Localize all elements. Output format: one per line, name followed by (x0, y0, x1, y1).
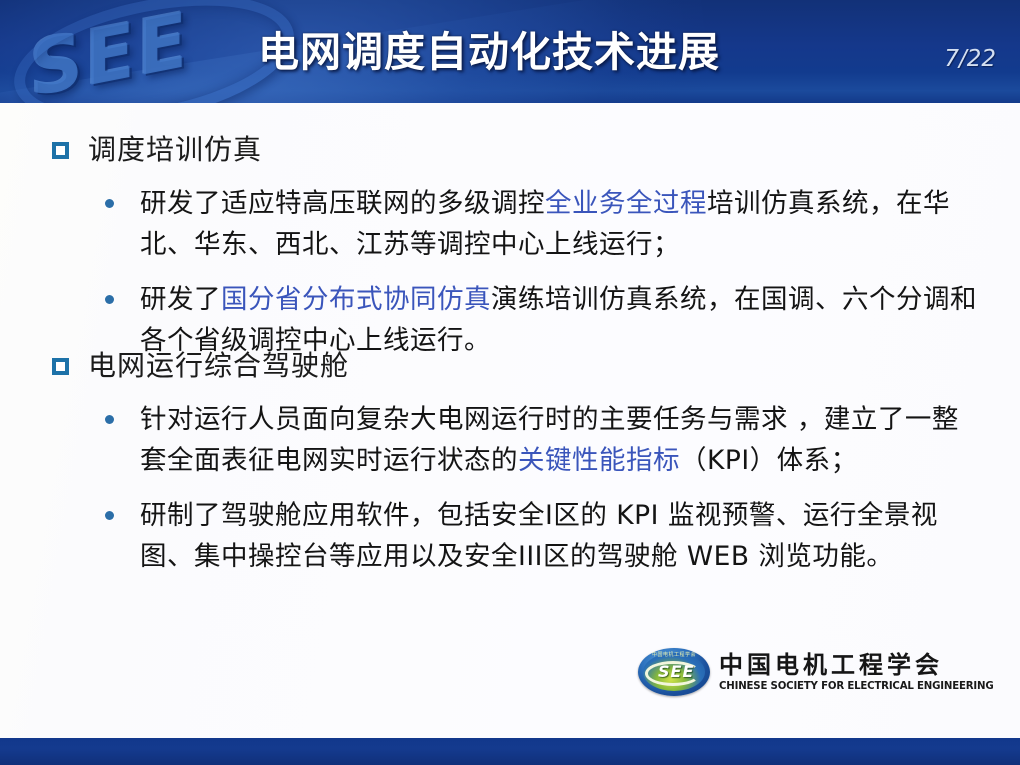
square-bullet-icon (52, 142, 69, 159)
dot-bullet-icon (105, 415, 114, 424)
list-item-text: 针对运行人员面向复杂大电网运行时的主要任务与需求 ，建立了一整套全面表征电网实时… (140, 399, 978, 481)
section-heading-row: 调度培训仿真 (0, 131, 1020, 169)
list-item: 针对运行人员面向复杂大电网运行时的主要任务与需求 ，建立了一整套全面表征电网实时… (0, 399, 1020, 481)
section-heading-row: 电网运行综合驾驶舱 (0, 347, 1020, 385)
text-run-highlight: 全业务全过程 (545, 188, 707, 219)
square-bullet-icon (52, 358, 69, 375)
dot-bullet-icon (105, 511, 114, 520)
dot-bullet-icon (105, 295, 114, 304)
text-run-highlight: 关键性能指标 (518, 445, 680, 476)
text-run: 研发了 (140, 284, 221, 315)
list-item: 研制了驾驶舱应用软件，包括安全I区的 KPI 监视预警、运行全景视图、集中操控台… (0, 495, 1020, 577)
section-heading-text: 调度培训仿真 (88, 131, 262, 169)
content-section-1: 调度培训仿真 研发了适应特高压联网的多级调控全业务全过程培训仿真系统，在华北、华… (0, 131, 1020, 361)
text-run: 研发了适应特高压联网的多级调控 (140, 188, 545, 219)
text-run: 研制了驾驶舱应用软件，包括安全I区的 KPI 监视预警、运行全景视图、集中操控台… (140, 500, 938, 572)
csee-emblem-icon: 中国电机工程学会 SEE (638, 648, 710, 696)
logo-name-chinese: 中国电机工程学会 (719, 652, 1002, 679)
slide-bottom-bar (0, 738, 1020, 765)
slide-body: 调度培训仿真 研发了适应特高压联网的多级调控全业务全过程培训仿真系统，在华北、华… (0, 103, 1020, 738)
emblem-arc-text: 中国电机工程学会 (648, 651, 700, 658)
page-title: 电网调度自动化技术进展 (258, 18, 720, 78)
dot-bullet-icon (105, 199, 114, 208)
page-number-indicator: 7/22 (944, 46, 996, 72)
emblem-see-text: SEE (658, 663, 694, 681)
slide-header: SEE 电网调度自动化技术进展 7/22 (0, 0, 1020, 103)
organization-logo: 中国电机工程学会 SEE 中国电机工程学会 CHINESE SOCIETY FO… (638, 648, 1002, 696)
list-item: 研发了适应特高压联网的多级调控全业务全过程培训仿真系统，在华北、华东、西北、江苏… (0, 183, 1020, 265)
list-item-text: 研制了驾驶舱应用软件，包括安全I区的 KPI 监视预警、运行全景视图、集中操控台… (140, 495, 978, 577)
logo-name-english: CHINESE SOCIETY FOR ELECTRICAL ENGINEERI… (719, 679, 993, 693)
text-run: （KPI）体系； (680, 445, 858, 476)
section-heading-text: 电网运行综合驾驶舱 (88, 347, 349, 385)
text-run-highlight: 国分省分布式协同仿真 (221, 284, 491, 315)
list-item-text: 研发了适应特高压联网的多级调控全业务全过程培训仿真系统，在华北、华东、西北、江苏… (140, 183, 978, 265)
content-section-2: 电网运行综合驾驶舱 针对运行人员面向复杂大电网运行时的主要任务与需求 ，建立了一… (0, 347, 1020, 577)
logo-wordmark: 中国电机工程学会 CHINESE SOCIETY FOR ELECTRICAL … (719, 652, 1002, 693)
see-watermark-logo: SEE (20, 0, 285, 103)
presentation-slide: SEE 电网调度自动化技术进展 7/22 调度培训仿真 研发了适应特高压联网的多… (0, 0, 1020, 765)
